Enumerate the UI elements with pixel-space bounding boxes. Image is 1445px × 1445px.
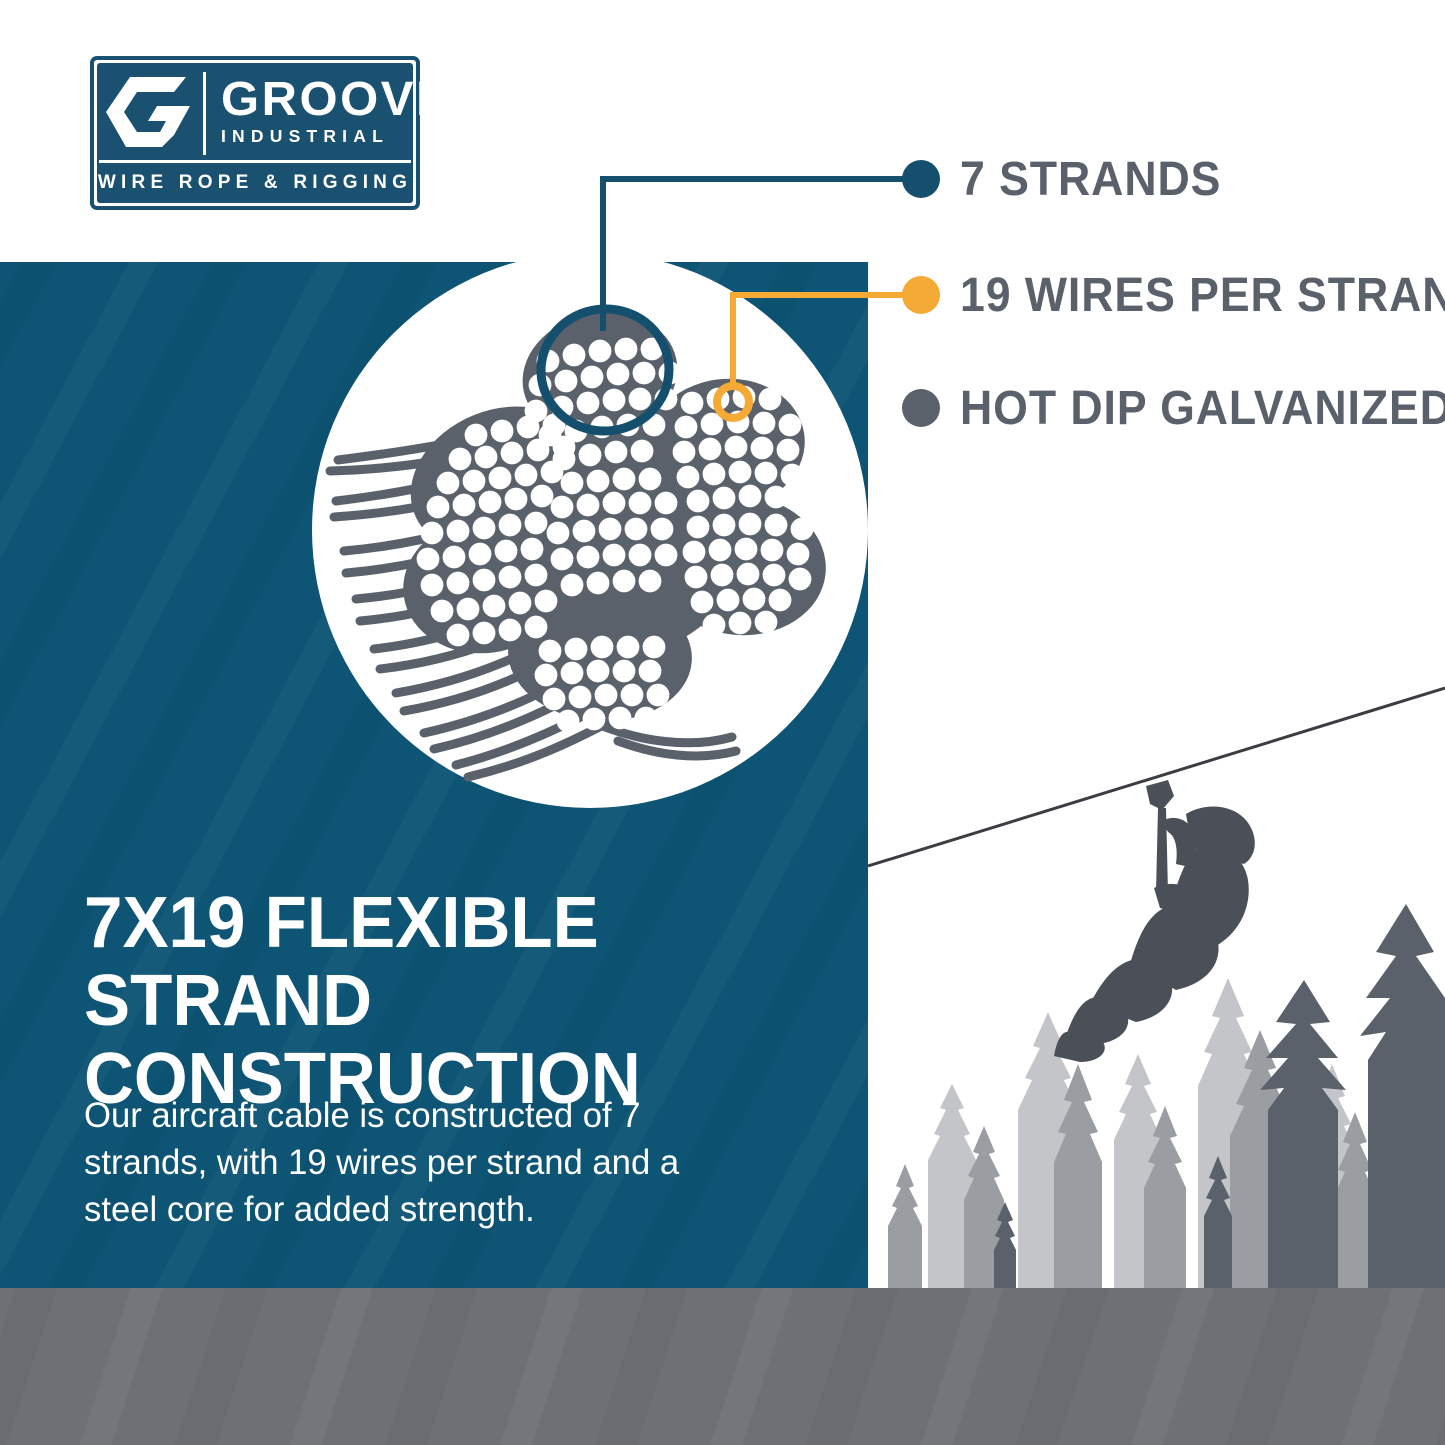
callout-dot-19-wires bbox=[902, 276, 940, 314]
connector-19-wires-vertical bbox=[730, 292, 736, 388]
connector-7-strands-horizontal bbox=[600, 176, 922, 182]
callout-dot-7-strands bbox=[902, 160, 940, 198]
logo-brand-text: GROOVE bbox=[221, 78, 451, 122]
logo-inner-plate: GROOVE INDUSTRIAL WIRE ROPE & RIGGING bbox=[97, 63, 413, 203]
callout-dot-hot-dip-galvanized bbox=[902, 389, 940, 427]
page-title: 7X19 FLEXIBLE STRAND CONSTRUCTION bbox=[84, 884, 814, 1118]
infographic-canvas: GROOVE INDUSTRIAL WIRE ROPE & RIGGING bbox=[0, 0, 1445, 1445]
callout-label-7-strands: 7 STRANDS bbox=[960, 152, 1221, 207]
headline-line-1: 7X19 FLEXIBLE bbox=[84, 884, 814, 962]
logo-divider bbox=[203, 72, 206, 155]
callout-label-19-wires-per-strand: 19 WIRES PER STRAND bbox=[960, 268, 1445, 323]
connector-19-wires-horizontal bbox=[730, 292, 922, 298]
logo-wordmark: GROOVE INDUSTRIAL bbox=[203, 63, 455, 160]
callout-label-hot-dip-galvanized: HOT DIP GALVANIZED bbox=[960, 381, 1445, 436]
bottom-band-wave-texture bbox=[0, 1288, 1445, 1445]
logo-subbrand-text: INDUSTRIAL bbox=[221, 126, 447, 146]
logo-tagline-text: WIRE ROPE & RIGGING bbox=[98, 172, 412, 194]
bottom-gray-band bbox=[0, 1288, 1445, 1445]
logo-top-row: GROOVE INDUSTRIAL bbox=[97, 63, 413, 160]
groove-g-monogram-icon bbox=[97, 63, 203, 160]
connector-7-strands-vertical bbox=[600, 176, 606, 331]
wire-rope-cross-section-illustration bbox=[300, 255, 880, 815]
body-description: Our aircraft cable is constructed of 7 s… bbox=[84, 1092, 757, 1233]
zipline-rider-forest-scene bbox=[868, 640, 1445, 1290]
brand-logo[interactable]: GROOVE INDUSTRIAL WIRE ROPE & RIGGING bbox=[90, 56, 420, 210]
single-wire-ring-marker-icon bbox=[713, 382, 753, 422]
logo-tagline-row: WIRE ROPE & RIGGING bbox=[97, 163, 413, 203]
